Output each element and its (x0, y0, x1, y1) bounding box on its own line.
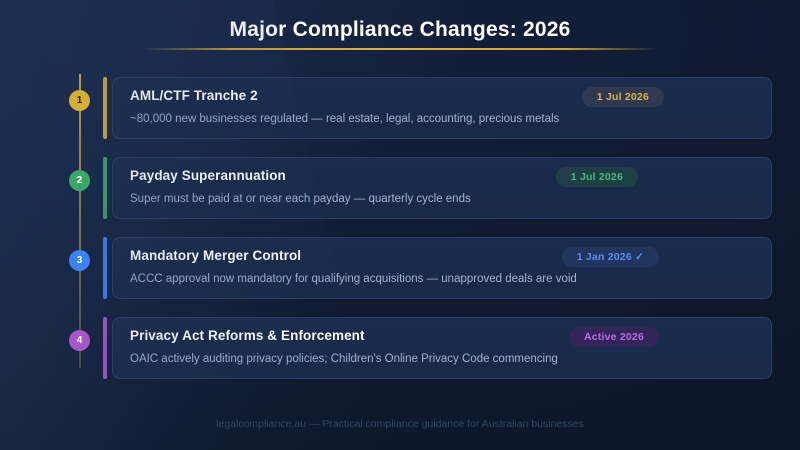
timeline-accent-bar-2 (103, 157, 107, 219)
timeline-card-title: Mandatory Merger Control (130, 248, 301, 263)
timeline-marker-4: 4 (69, 330, 90, 351)
timeline-card-description: ACCC approval now mandatory for qualifyi… (130, 271, 577, 287)
timeline-card-title: Payday Superannuation (130, 168, 286, 183)
timeline-card-3[interactable]: Mandatory Merger Control ACCC approval n… (112, 237, 772, 299)
timeline-card-description: Super must be paid at or near each payda… (130, 191, 471, 207)
timeline-card-4[interactable]: Privacy Act Reforms & Enforcement OAIC a… (112, 317, 772, 379)
timeline-marker-number: 3 (77, 255, 83, 266)
timeline-marker-2: 2 (69, 170, 90, 191)
title-divider (140, 48, 660, 50)
timeline-marker-3: 3 (69, 250, 90, 271)
timeline-item-3[interactable]: 3 Mandatory Merger Control ACCC approval… (0, 237, 800, 299)
slide-canvas: Major Compliance Changes: 2026 1 AML/CTF… (0, 0, 800, 450)
timeline-card-description: OAIC actively auditing privacy policies;… (130, 351, 558, 367)
timeline-date-badge: 1 Jul 2026 (582, 87, 664, 107)
timeline-date-badge: Active 2026 (569, 327, 659, 347)
page-title: Major Compliance Changes: 2026 (0, 16, 800, 44)
slide-header: Major Compliance Changes: 2026 (0, 16, 800, 44)
timeline-card-description: ~80,000 new businesses regulated — real … (130, 111, 559, 127)
timeline-marker-1: 1 (69, 90, 90, 111)
timeline-date-badge: 1 Jul 2026 (556, 167, 638, 187)
timeline-date-badge: 1 Jan 2026 ✓ (562, 247, 659, 267)
timeline-card-title: Privacy Act Reforms & Enforcement (130, 328, 365, 343)
timeline-accent-bar-1 (103, 77, 107, 139)
timeline-accent-bar-3 (103, 237, 107, 299)
timeline-item-4[interactable]: 4 Privacy Act Reforms & Enforcement OAIC… (0, 317, 800, 379)
timeline-card-2[interactable]: Payday Superannuation Super must be paid… (112, 157, 772, 219)
timeline-card-1[interactable]: AML/CTF Tranche 2 ~80,000 new businesses… (112, 77, 772, 139)
timeline-card-title: AML/CTF Tranche 2 (130, 88, 258, 103)
timeline-marker-number: 4 (77, 335, 83, 346)
timeline-item-1[interactable]: 1 AML/CTF Tranche 2 ~80,000 new business… (0, 77, 800, 139)
timeline-marker-number: 2 (77, 175, 83, 186)
timeline-item-2[interactable]: 2 Payday Superannuation Super must be pa… (0, 157, 800, 219)
timeline-marker-number: 1 (77, 95, 83, 106)
timeline-accent-bar-4 (103, 317, 107, 379)
slide-footer: legalcompliance.au — Practical complianc… (0, 418, 800, 430)
